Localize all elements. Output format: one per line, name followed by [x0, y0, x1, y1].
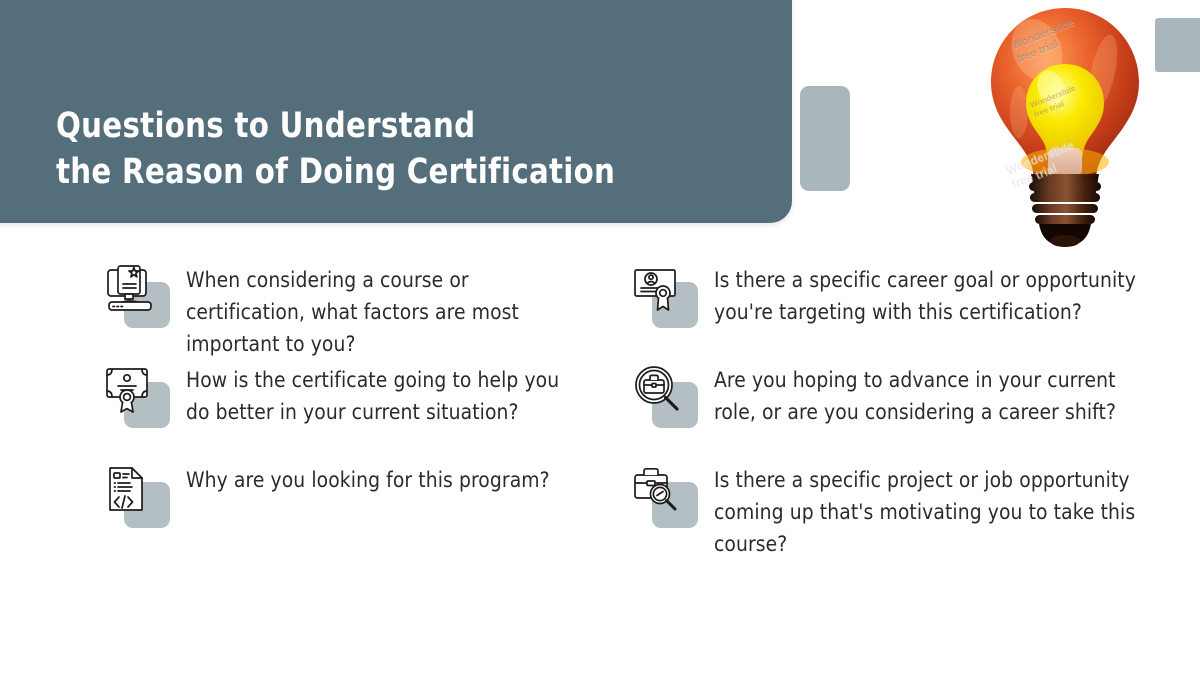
briefcase-search-icon [632, 464, 688, 520]
decorative-rectangle-header-right [800, 86, 850, 191]
id-card-award-icon [632, 264, 688, 320]
question-item: Is there a specific project or job oppor… [0, 462, 1150, 562]
monitor-certificate-icon [104, 264, 160, 320]
question-text: Is there a specific career goal or oppor… [714, 262, 1137, 329]
questions-column-right: Is there a specific career goal or oppor… [600, 262, 1200, 562]
briefcase-magnifier-icon [632, 364, 688, 420]
certificate-ribbon-icon [104, 364, 160, 420]
question-item: Is there a specific career goal or oppor… [0, 262, 1150, 362]
slide-canvas: Questions to Understand the Reason of Do… [0, 0, 1200, 675]
page-title: Questions to Understand the Reason of Do… [56, 104, 707, 195]
question-text: Is there a specific project or job oppor… [714, 462, 1137, 560]
question-item: Are you hoping to advance in your curren… [0, 362, 1150, 462]
question-text: Are you hoping to advance in your curren… [714, 362, 1137, 429]
code-document-icon [104, 464, 160, 520]
header-panel: Questions to Understand the Reason of Do… [0, 0, 792, 223]
decorative-rectangle-top-right [1155, 18, 1200, 72]
questions-grid: When considering a course or certificati… [0, 262, 1200, 562]
light-bulb-illustration: Wonderslide free trial Wonderslide free … [975, 2, 1155, 252]
